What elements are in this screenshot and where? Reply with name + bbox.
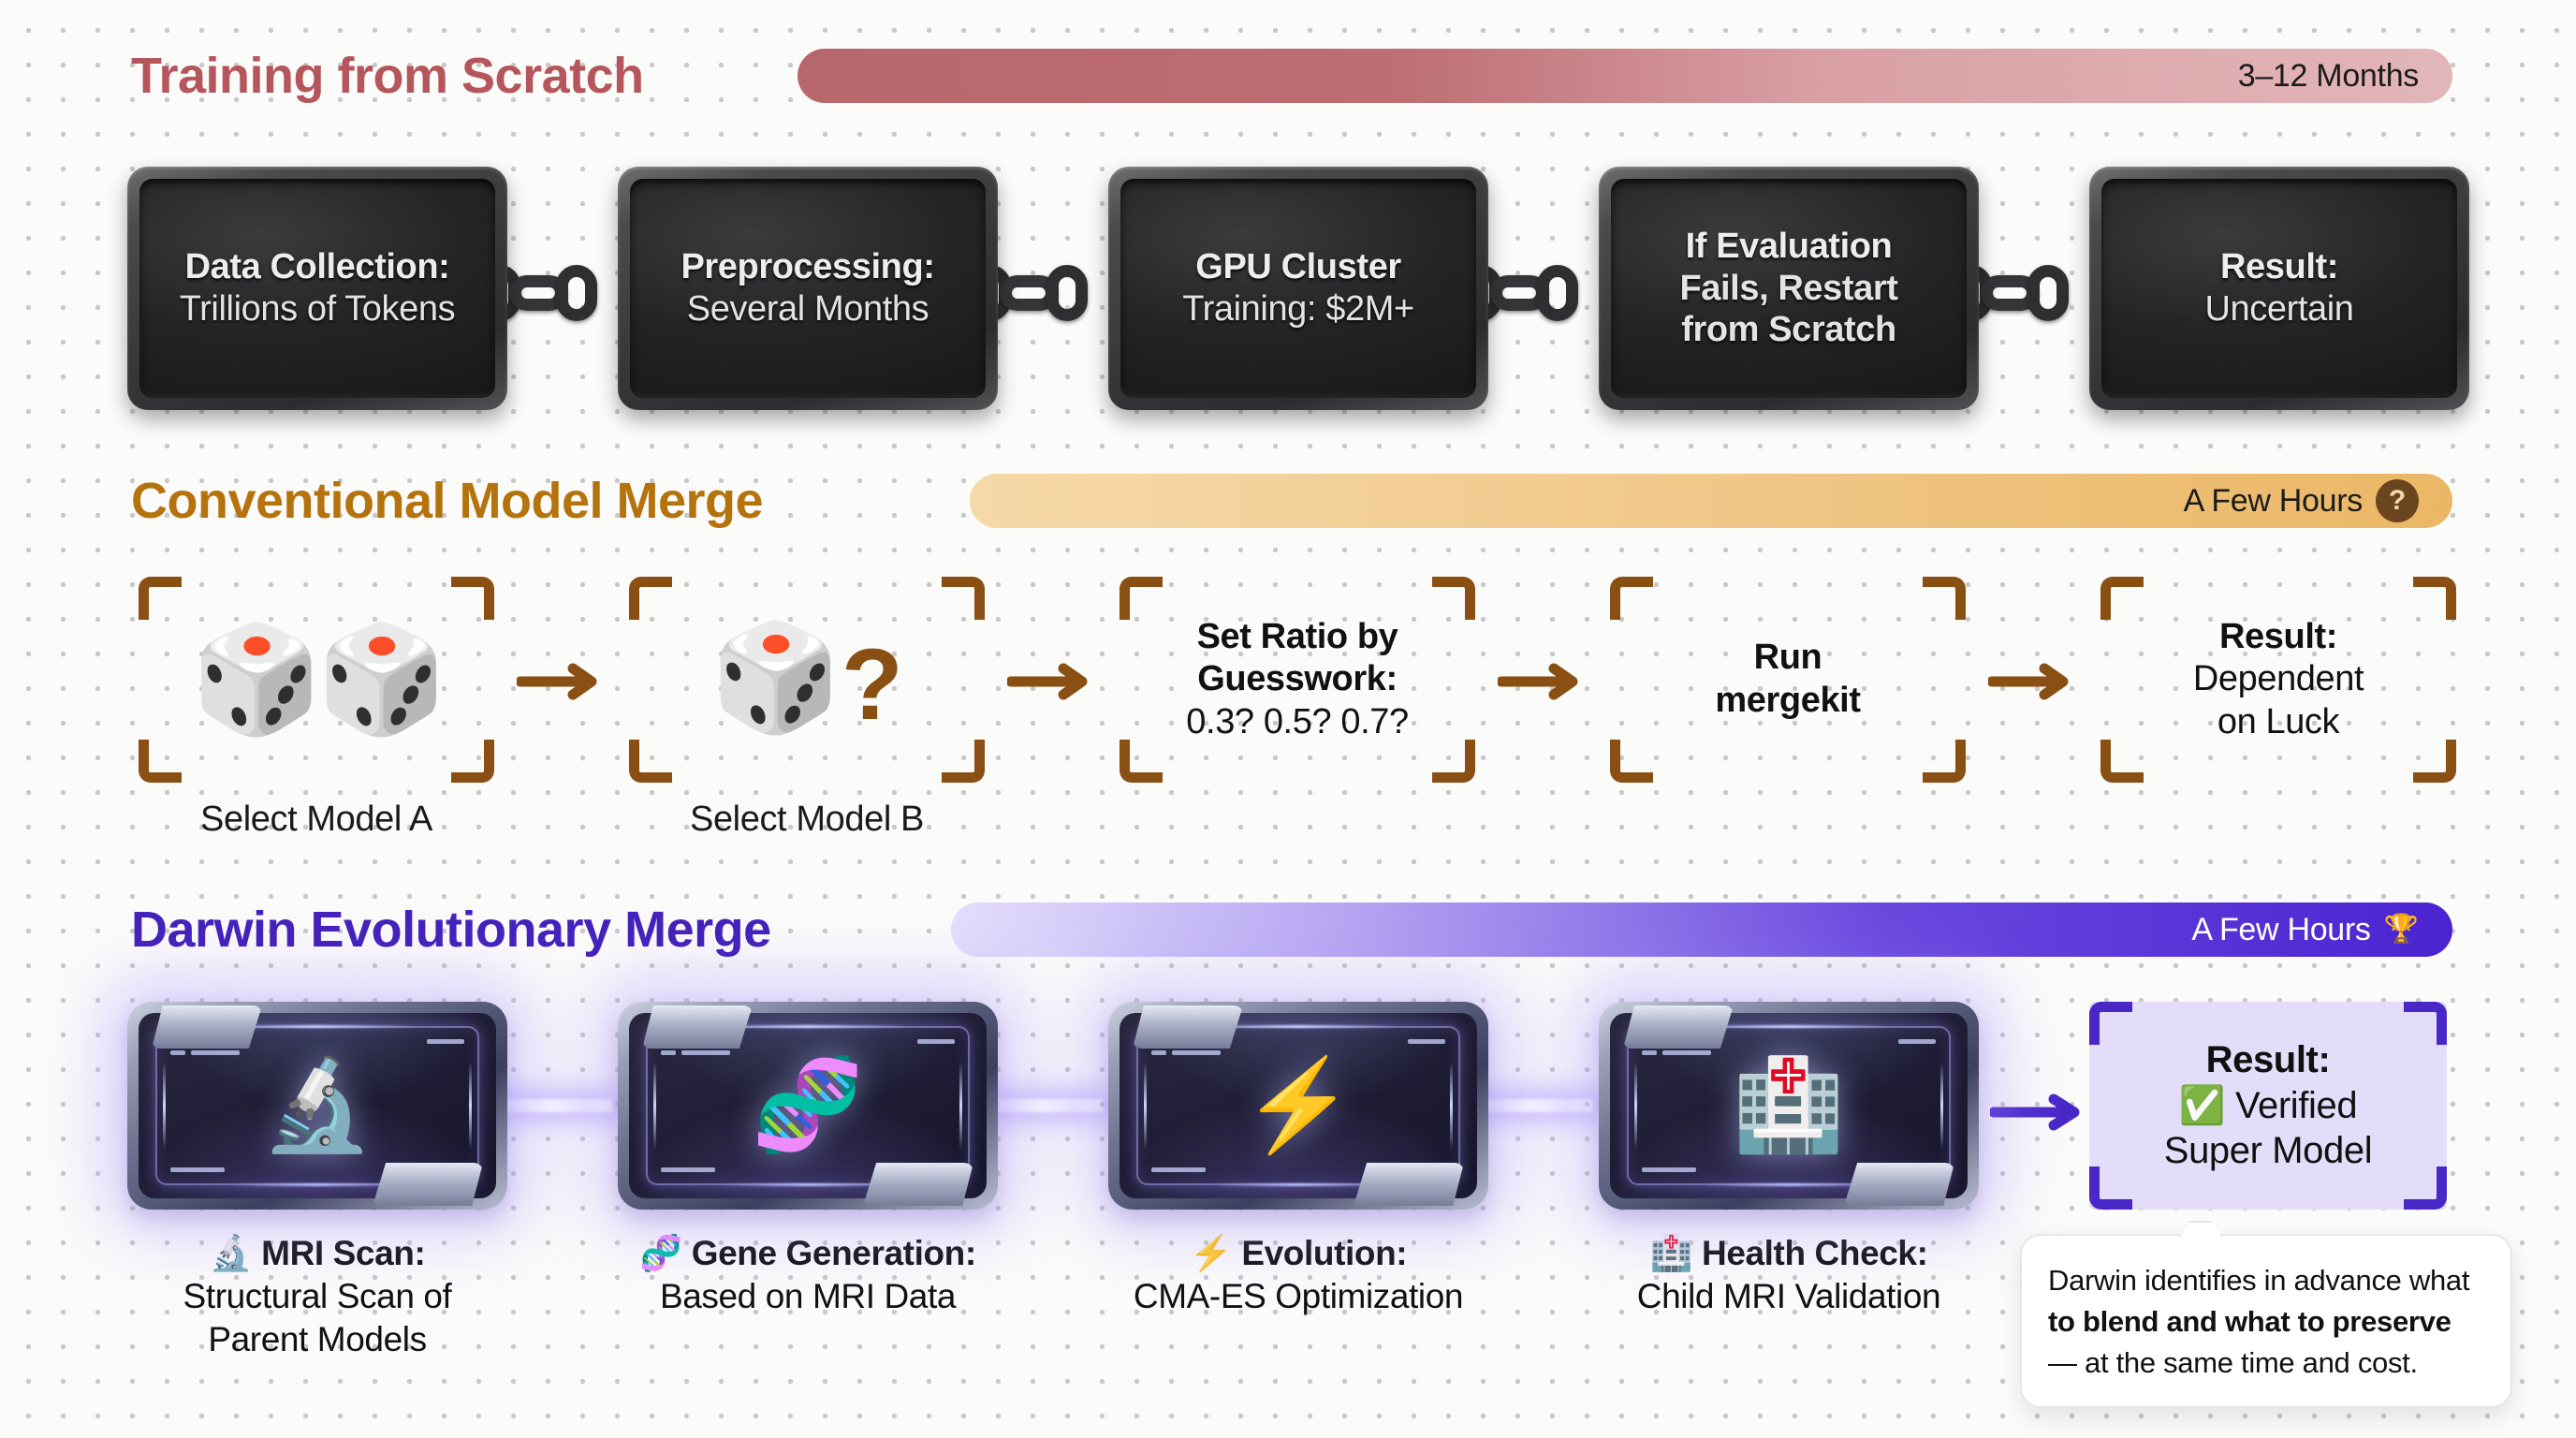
tech-panel-mri-scan[interactable]: 🔬 [127, 1002, 507, 1210]
hud-tick-icon [1408, 1039, 1445, 1044]
tech-panel-health-check[interactable]: 🏥 [1599, 1002, 1979, 1210]
result-subtitle: ✅ Verified Super Model [2164, 1083, 2372, 1175]
step-title: Data Collection: [185, 246, 450, 288]
panel-glow-top [217, 1025, 417, 1028]
step-title: Result: [2220, 246, 2338, 288]
hud-tick-icon [1151, 1050, 1166, 1055]
step-caption-body: Structural Scan of Parent Models [112, 1275, 522, 1361]
tooltip-part-2: — at the same time and cost. [2048, 1346, 2418, 1379]
corner-bracket-icon [2089, 1167, 2132, 1210]
step-caption: Select Model B [629, 800, 985, 840]
arrow-icon [1498, 663, 1584, 700]
bracket-card-body: Set Ratio by Guesswork: 0.3? 0.5? 0.7? [1120, 577, 1475, 783]
corner-bracket-icon [2089, 1002, 2132, 1045]
hud-tick-icon [1670, 1039, 1711, 1044]
hud-tick-icon [1642, 1050, 1657, 1055]
tooltip-text: Darwin identifies in advance what to ble… [2048, 1260, 2484, 1384]
tooltip-part-1: Darwin identifies in advance what [2048, 1264, 2469, 1297]
trophy-icon: 🏆 [2384, 916, 2419, 944]
dna-icon: 🧬 [752, 1061, 864, 1151]
metal-step-card[interactable]: Result: Uncertain [2089, 167, 2469, 410]
tooltip-callout: Darwin identifies in advance what to ble… [2020, 1234, 2512, 1408]
corner-bracket-icon [2404, 1167, 2447, 1210]
hud-tick-icon [170, 1167, 225, 1172]
question-badge-icon: ? [2376, 479, 2419, 522]
panel-bar-right [1450, 1062, 1453, 1150]
metal-step-body: Data Collection: Trillions of Tokens [139, 179, 495, 398]
metal-step-body: GPU Cluster Training: $2M+ [1120, 179, 1476, 398]
hud-tick-icon [661, 1167, 715, 1172]
panel-glow-top [1198, 1025, 1398, 1028]
step-subtitle: Trillions of Tokens [180, 288, 455, 330]
row3-duration-bar: A Few Hours 🏆 [951, 902, 2452, 957]
hud-tick-icon [1908, 1167, 1936, 1172]
tech-panel-screen: 🧬 [629, 1013, 987, 1198]
step-subtitle: Fails, Restart from Scratch [1679, 268, 1897, 352]
bracket-card-select-model-b[interactable]: 🎲? [629, 577, 985, 783]
tech-panel-screen: ⚡ [1120, 1013, 1477, 1198]
step-subtitle: Several Months [687, 288, 929, 330]
step-caption: 🔬 MRI Scan: Structural Scan of Parent Mo… [112, 1232, 522, 1361]
step-caption-title: 🔬 MRI Scan: [112, 1232, 522, 1275]
panel-glow-top [1689, 1025, 1889, 1028]
hud-tick-icon [170, 1039, 193, 1044]
hospital-icon: 🏥 [1733, 1061, 1845, 1151]
dice-question-group: 🎲? [710, 625, 902, 735]
step-caption: 🧬 Gene Generation: Based on MRI Data [603, 1232, 1013, 1318]
bracket-card-body: 🎲? [629, 577, 985, 783]
question-mark-icon: ? [842, 627, 903, 741]
hud-tick-icon [1898, 1039, 1936, 1044]
bracket-card-body: 🎲🎲 [139, 577, 494, 783]
step-title: Run [1754, 637, 1822, 680]
row1-duration-bar: 3–12 Months [798, 49, 2452, 103]
step-title: Result: [2219, 616, 2337, 659]
panel-bar-right [469, 1062, 472, 1150]
row3-duration-label: A Few Hours [2191, 912, 2370, 948]
panel-glow-top [708, 1025, 908, 1028]
step-subtitle: Uncertain [2204, 288, 2353, 330]
step-subtitle: Dependent on Luck [2193, 658, 2364, 743]
row3-header: Darwin Evolutionary Merge A Few Hours 🏆 [0, 897, 2576, 962]
row2-steps: 🎲🎲 Select Model A 🎲? [0, 577, 2576, 858]
step-subtitle: 0.3? 0.5? 0.7? [1186, 701, 1408, 744]
row2-header: Conventional Model Merge A Few Hours ? [0, 468, 2576, 534]
hud-tick-icon [1151, 1039, 1174, 1044]
bracket-card-set-ratio[interactable]: Set Ratio by Guesswork: 0.3? 0.5? 0.7? [1120, 577, 1475, 783]
metal-step-body: Result: Uncertain [2101, 179, 2457, 398]
tech-panel-evolution[interactable]: ⚡ [1108, 1002, 1488, 1210]
chain-ring [2027, 265, 2069, 321]
row3-steps: 🔬 🔬 MRI Scan: Structural Scan of Parent … [0, 1002, 2576, 1395]
step-subtitle: Training: $2M+ [1182, 288, 1414, 330]
result-card-verified-super-model[interactable]: Result: ✅ Verified Super Model [2089, 1002, 2447, 1210]
metal-step-card[interactable]: Preprocessing: Several Months [618, 167, 998, 410]
step-caption-body: Child MRI Validation [1584, 1275, 1994, 1318]
step-title: GPU Cluster [1195, 246, 1400, 288]
metal-step-body: Preprocessing: Several Months [630, 179, 986, 398]
step-caption: 🏥 Health Check: Child MRI Validation [1584, 1232, 1994, 1318]
step-caption-title: 🏥 Health Check: [1584, 1232, 1994, 1275]
metal-step-card[interactable]: GPU Cluster Training: $2M+ [1108, 167, 1488, 410]
row3-title: Darwin Evolutionary Merge [131, 901, 771, 959]
row2-title: Conventional Model Merge [131, 472, 763, 530]
tech-panel-screen: 🔬 [139, 1013, 496, 1198]
hud-tick-icon [1662, 1050, 1711, 1055]
panel-bar-left [163, 1062, 166, 1150]
row-darwin-evolutionary-merge: Darwin Evolutionary Merge A Few Hours 🏆 [0, 897, 2576, 962]
step-caption-title: ⚡ Evolution: [1093, 1232, 1503, 1275]
chain-ring [556, 265, 597, 321]
hud-tick-icon [191, 1050, 240, 1055]
row2-duration-label: A Few Hours [2184, 483, 2363, 520]
row1-duration-label: 3–12 Months [2238, 58, 2419, 95]
hud-tick-icon [917, 1039, 955, 1044]
metal-step-card[interactable]: Data Collection: Trillions of Tokens [127, 167, 507, 410]
row1-header: Training from Scratch 3–12 Months [0, 43, 2576, 109]
chain-ring [1046, 265, 1088, 321]
bracket-card-body: Run mergekit [1610, 577, 1966, 783]
dice-icon: 🎲 [710, 619, 841, 736]
row1-title: Training from Scratch [131, 47, 644, 105]
hud-tick-icon [1417, 1167, 1445, 1172]
metal-step-card[interactable]: If Evaluation Fails, Restart from Scratc… [1599, 167, 1979, 410]
bracket-card-run-mergekit[interactable]: Run mergekit [1610, 577, 1966, 783]
hud-tick-icon [198, 1039, 240, 1044]
lightning-icon: ⚡ [1242, 1061, 1354, 1151]
arrow-icon [1990, 1092, 2087, 1133]
step-caption: ⚡ Evolution: CMA-ES Optimization [1093, 1232, 1503, 1318]
row1-steps: Data Collection: Trillions of Tokens Pre… [0, 167, 2576, 419]
bracket-card-body: Result: Dependent on Luck [2100, 577, 2456, 783]
row-training-from-scratch: Training from Scratch 3–12 Months [0, 43, 2576, 109]
hud-tick-icon [436, 1167, 464, 1172]
tooltip-pointer-icon [2179, 1221, 2222, 1238]
tooltip-bold: to blend and what to preserve [2048, 1305, 2452, 1338]
bracket-card-select-model-a[interactable]: 🎲🎲 [139, 577, 494, 783]
panel-bar-right [1940, 1062, 1943, 1150]
corner-bracket-icon [2404, 1002, 2447, 1045]
hud-tick-icon [1172, 1050, 1221, 1055]
hud-tick-icon [1642, 1167, 1696, 1172]
step-caption-title: 🧬 Gene Generation: [603, 1232, 1013, 1275]
step-caption-body: CMA-ES Optimization [1093, 1275, 1503, 1318]
bracket-card-result[interactable]: Result: Dependent on Luck [2100, 577, 2456, 783]
panel-bar-left [1634, 1062, 1637, 1150]
hud-tick-icon [689, 1039, 730, 1044]
chain-ring [1537, 265, 1578, 321]
panel-bar-left [653, 1062, 656, 1150]
panel-bar-left [1144, 1062, 1147, 1150]
tech-panel-screen: 🏥 [1610, 1013, 1968, 1198]
result-title: Result: [2206, 1037, 2331, 1083]
step-title: If Evaluation [1686, 226, 1893, 268]
hud-tick-icon [1151, 1167, 1206, 1172]
step-subtitle: mergekit [1715, 680, 1860, 723]
dice-icon: 🎲🎲 [192, 627, 442, 732]
step-caption: Select Model A [139, 800, 494, 840]
step-caption-body: Based on MRI Data [603, 1275, 1013, 1318]
panel-glow-bottom [231, 1183, 402, 1186]
hud-tick-icon [1642, 1039, 1664, 1044]
panel-glow-bottom [1703, 1183, 1874, 1186]
arrow-icon [517, 663, 603, 700]
hud-tick-icon [427, 1039, 464, 1044]
panel-glow-bottom [722, 1183, 893, 1186]
hud-tick-icon [661, 1050, 676, 1055]
microscope-icon: 🔬 [261, 1061, 373, 1151]
row2-duration-bar: A Few Hours ? [970, 474, 2452, 528]
step-title: Set Ratio by Guesswork: [1197, 616, 1398, 701]
row-conventional-model-merge: Conventional Model Merge A Few Hours ? 🎲… [0, 468, 2576, 534]
panel-bar-right [959, 1062, 962, 1150]
arrow-icon [1007, 663, 1093, 700]
hud-tick-icon [681, 1050, 730, 1055]
hud-tick-icon [661, 1039, 683, 1044]
step-title: Preprocessing: [681, 246, 934, 288]
hud-tick-icon [927, 1167, 955, 1172]
hud-tick-icon [170, 1050, 185, 1055]
arrow-icon [1988, 663, 2074, 700]
panel-glow-bottom [1212, 1183, 1383, 1186]
metal-step-body: If Evaluation Fails, Restart from Scratc… [1611, 179, 1967, 398]
infographic-canvas: Training from Scratch 3–12 Months [0, 0, 2576, 1438]
tech-panel-gene-generation[interactable]: 🧬 [618, 1002, 998, 1210]
hud-tick-icon [1179, 1039, 1221, 1044]
